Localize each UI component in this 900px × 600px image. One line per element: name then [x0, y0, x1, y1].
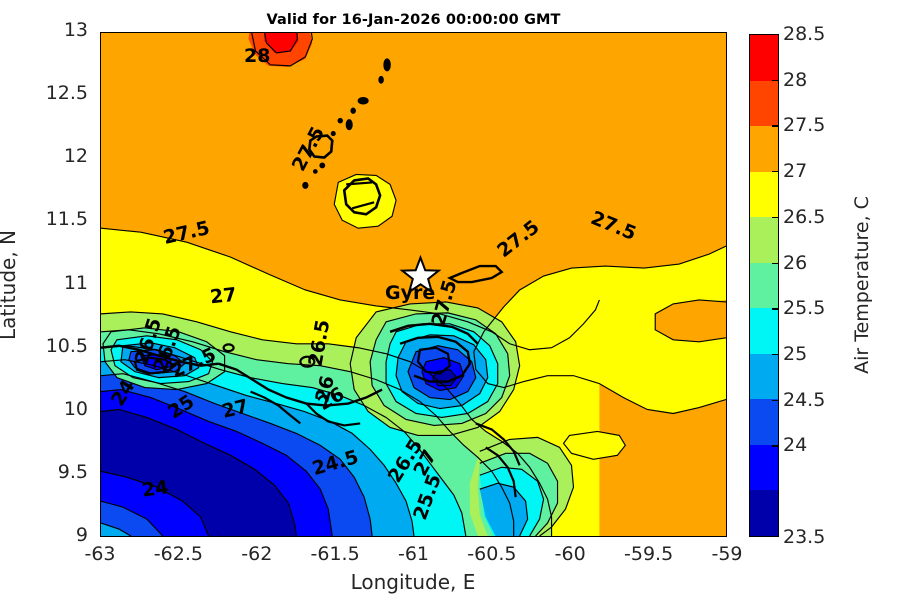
- gyre-marker-label: Gyre: [385, 282, 435, 304]
- x-axis-title: Longitude, E: [351, 570, 476, 594]
- colorbar-band: [750, 490, 778, 536]
- xtick-label: -60.5: [467, 543, 516, 565]
- contour-label: 26.5: [296, 332, 343, 354]
- colorbar-tick-label: 26: [783, 252, 807, 274]
- xtick-label: -61: [398, 543, 429, 565]
- contour-label: 27.5: [163, 222, 210, 244]
- colorbar-tick-label: 27: [783, 160, 807, 182]
- colorbar-tick-label: 25: [783, 343, 807, 365]
- colorbar-band: [750, 308, 778, 354]
- xtick-label: -60: [555, 543, 586, 565]
- contour-label: 24: [142, 478, 168, 500]
- colorbar-tick-label: 28: [783, 69, 807, 91]
- figure-canvas: Valid for 16-Jan-2026 00:00:00 GMT: [0, 0, 900, 600]
- colorbar-tick-label: 26.5: [783, 206, 825, 228]
- colorbar-band: [750, 399, 778, 445]
- xtick-label: -61.5: [311, 543, 360, 565]
- colorbar-band: [750, 354, 778, 400]
- colorbar-band: [750, 126, 778, 172]
- colorbar-tick-label: 27.5: [783, 114, 825, 136]
- colorbar-band: [750, 445, 778, 491]
- colorbar-band: [750, 35, 778, 81]
- colorbar-tick-label: 25.5: [783, 297, 825, 319]
- plot-title: Valid for 16-Jan-2026 00:00:00 GMT: [100, 12, 727, 28]
- colorbar-band: [750, 172, 778, 218]
- colorbar[interactable]: [749, 34, 779, 537]
- contour-label: 27.5: [170, 352, 217, 374]
- xtick-label: -63: [84, 543, 115, 565]
- contour-label: 26: [318, 388, 344, 410]
- colorbar-tick-label: 28.5: [783, 23, 825, 45]
- contour-label: 25: [168, 396, 194, 418]
- contour-label: 27.5: [285, 138, 332, 160]
- colorbar-title: Air Temperature, C: [851, 196, 873, 374]
- contour-label: 27.5: [495, 228, 542, 250]
- colorbar-band: [750, 263, 778, 309]
- contour-label: 27: [210, 285, 236, 307]
- contour-label: 25.5: [404, 486, 451, 508]
- contour-label: 27: [222, 398, 248, 420]
- contour-label: 24: [110, 382, 136, 404]
- colorbar-tick-label: 24: [783, 434, 807, 456]
- colorbar-band: [750, 217, 778, 263]
- xtick-label: -62: [241, 543, 272, 565]
- xtick-label: -59.5: [624, 543, 673, 565]
- colorbar-tick-label: 24.5: [783, 389, 825, 411]
- y-axis-title: Latitude, N: [0, 230, 20, 340]
- colorbar-band: [750, 81, 778, 127]
- xtick-label: -59: [711, 543, 742, 565]
- contour-label: 27.5: [590, 215, 637, 237]
- xtick-label: -62.5: [154, 543, 203, 565]
- contour-label: 24.5: [312, 452, 359, 474]
- colorbar-tick-label: 23.5: [783, 526, 825, 548]
- contour-label: 28: [244, 45, 270, 67]
